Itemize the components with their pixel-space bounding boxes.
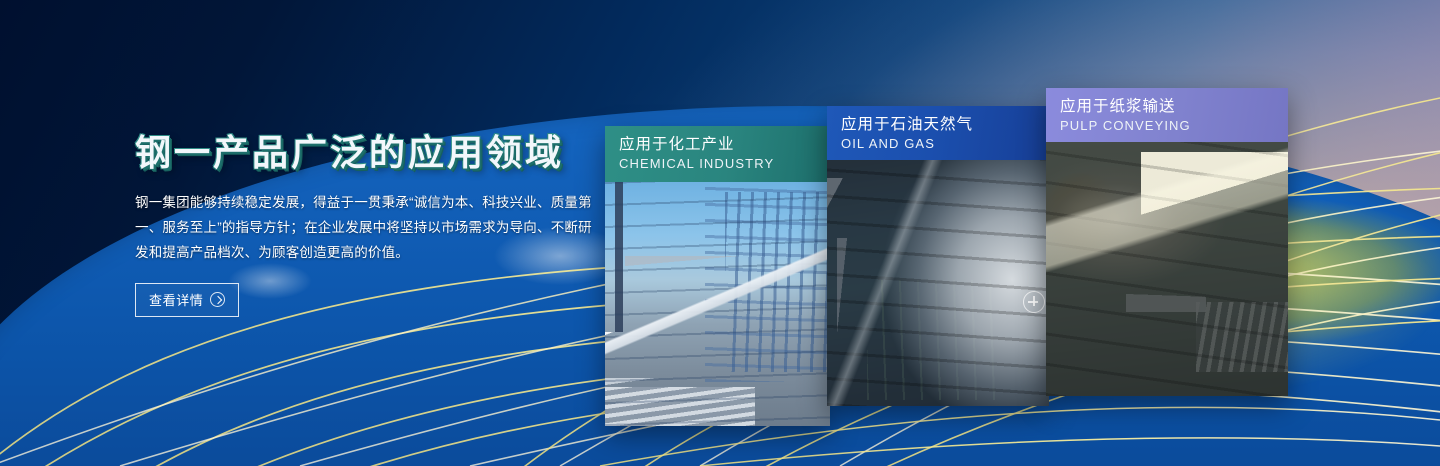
card-pulp-header: 应用于纸浆输送 PULP CONVEYING [1046, 88, 1288, 142]
zoom-in-icon[interactable] [1023, 291, 1045, 313]
card-chemical-header: 应用于化工产业 CHEMICAL INDUSTRY [605, 126, 830, 182]
card-pulp-conveying[interactable]: 应用于纸浆输送 PULP CONVEYING [1046, 88, 1288, 396]
view-details-label: 查看详情 [149, 290, 203, 309]
chevron-right-circle-icon [210, 292, 225, 307]
card-pulp-title-en: PULP CONVEYING [1060, 118, 1274, 133]
banner-copy: 钢一产品广泛的应用领域 钢一集团能够持续稳定发展，得益于一贯秉承“诚信为本、科技… [135, 133, 605, 317]
page-title: 钢一产品广泛的应用领域 [135, 133, 605, 173]
banner-description: 钢一集团能够持续稳定发展，得益于一贯秉承“诚信为本、科技兴业、质量第一、服务至上… [135, 190, 605, 265]
card-oilgas-title-cn: 应用于石油天然气 [841, 115, 1035, 135]
view-details-button[interactable]: 查看详情 [135, 283, 239, 317]
card-chemical-title-en: CHEMICAL INDUSTRY [619, 156, 816, 171]
card-pulp-image [1046, 142, 1288, 396]
card-pulp-title-cn: 应用于纸浆输送 [1060, 97, 1274, 117]
application-fields-banner: 钢一产品广泛的应用领域 钢一集团能够持续稳定发展，得益于一贯秉承“诚信为本、科技… [0, 0, 1440, 466]
card-chemical-industry[interactable]: 应用于化工产业 CHEMICAL INDUSTRY [605, 126, 830, 426]
card-oilgas-image [827, 160, 1049, 406]
card-chemical-image [605, 182, 830, 426]
card-oil-and-gas[interactable]: 应用于石油天然气 OIL AND GAS [827, 106, 1049, 406]
card-chemical-title-cn: 应用于化工产业 [619, 135, 816, 155]
card-oilgas-header: 应用于石油天然气 OIL AND GAS [827, 106, 1049, 160]
card-oilgas-title-en: OIL AND GAS [841, 136, 1035, 151]
